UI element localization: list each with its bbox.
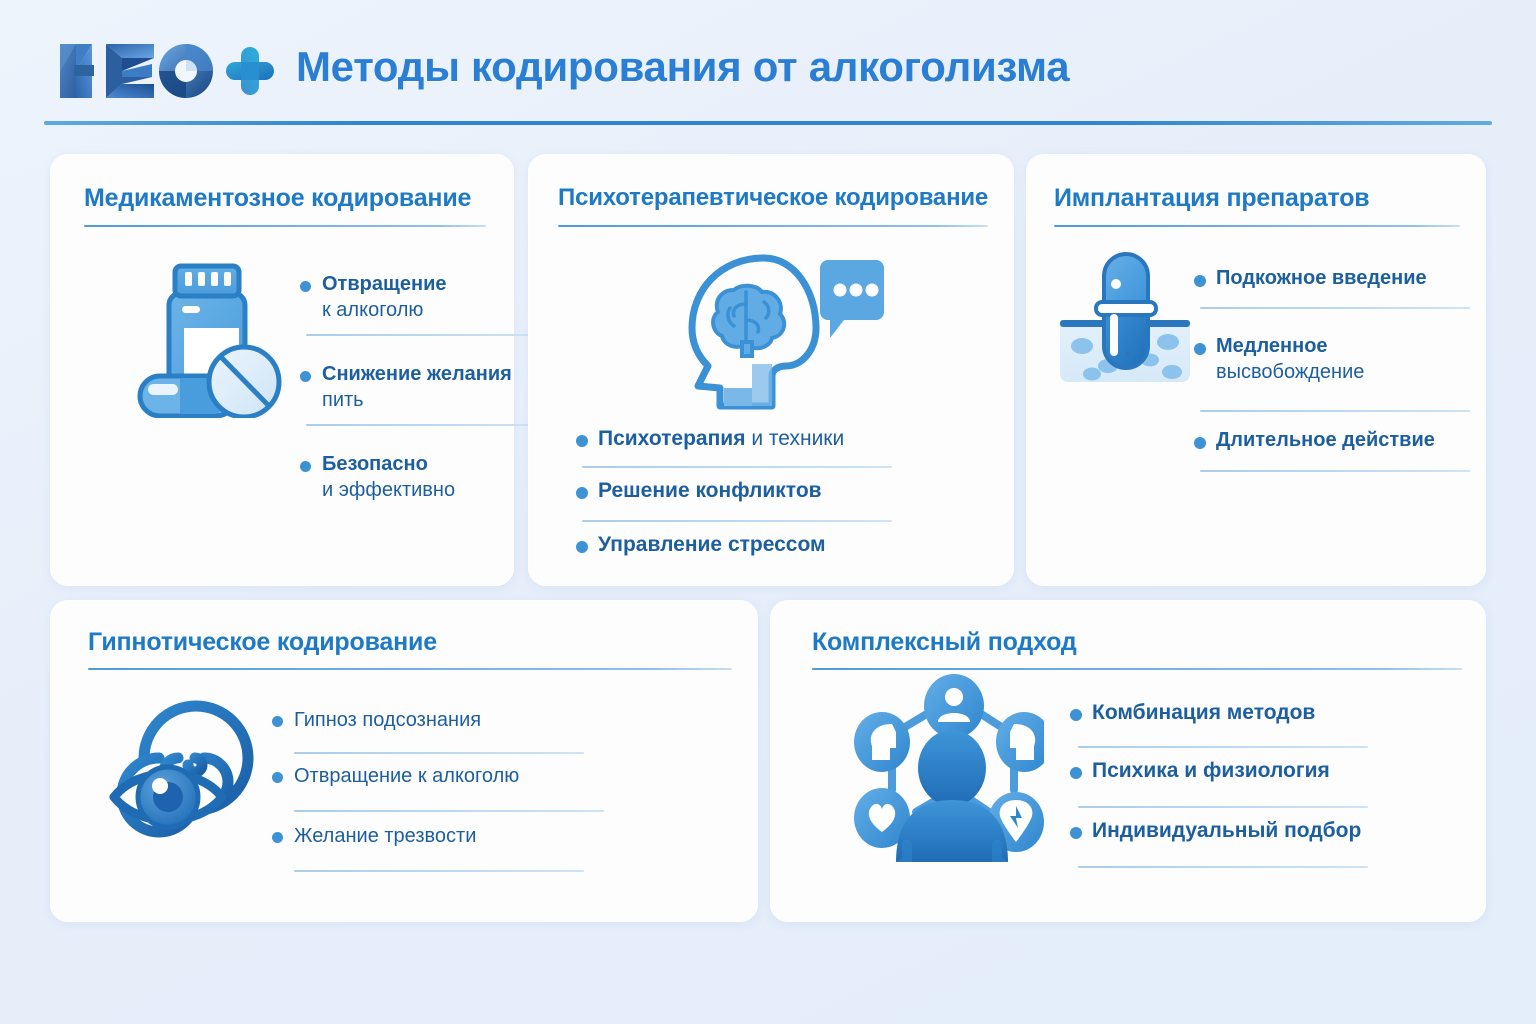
bullet-tail: высвобождение bbox=[1216, 360, 1474, 386]
bullet-rule bbox=[1200, 470, 1470, 472]
bullet-dot bbox=[272, 772, 283, 783]
bullet-dot bbox=[576, 541, 588, 553]
list-item[interactable]: Психика и физиология bbox=[1070, 758, 1390, 818]
person-network-icon bbox=[834, 672, 1044, 872]
capsule-implant-icon bbox=[1050, 244, 1200, 404]
card-complex-title: Комплексный подход bbox=[812, 628, 1077, 657]
pill-bottle-icon bbox=[126, 258, 286, 423]
bullet-rule bbox=[1078, 806, 1368, 808]
list-item[interactable]: Решение конфликтов bbox=[576, 478, 996, 532]
bullet-lead: Снижение желания bbox=[322, 363, 512, 385]
card-implant-title: Имплантация препаратов bbox=[1054, 184, 1369, 213]
list-item[interactable]: Длительное действие bbox=[1194, 410, 1474, 466]
list-item[interactable]: Безопасно и эффективно bbox=[300, 424, 550, 494]
page-title: Методы кодирования от алкоголизма bbox=[296, 43, 1069, 91]
bullet-lead: Решение конфликтов bbox=[598, 479, 822, 502]
list-item[interactable]: Медленное высвобождение bbox=[1194, 318, 1474, 410]
list-item[interactable]: Индивидуальный подбор bbox=[1070, 818, 1390, 878]
card-psycho-title-rule bbox=[558, 225, 988, 227]
card-implant-title-rule bbox=[1054, 225, 1460, 227]
logo-svg bbox=[56, 40, 276, 102]
card-implant-bullets: Подкожное введение Медленное высвобожден… bbox=[1194, 266, 1474, 466]
bullet-dot bbox=[300, 461, 311, 472]
list-item[interactable]: Отвращение к алкоголю bbox=[272, 764, 602, 824]
bullet-rule bbox=[294, 810, 604, 812]
card-medication-title-rule bbox=[84, 225, 486, 227]
bullet-tail: и техники bbox=[751, 427, 844, 450]
bullet-dot bbox=[1070, 709, 1082, 721]
bullet-lead: Управление стрессом bbox=[598, 533, 826, 556]
bullet-dot bbox=[300, 371, 311, 382]
bullet-lead: Желание трезвости bbox=[294, 825, 476, 847]
bullet-lead: Безопасно bbox=[322, 453, 428, 475]
bullet-lead: Гипноз подсознания bbox=[294, 709, 481, 731]
bullet-lead: Индивидуальный подбор bbox=[1092, 819, 1361, 842]
bullet-dot bbox=[1194, 275, 1206, 287]
card-hypnosis-bullets: Гипноз подсознания Отвращение к алкоголю… bbox=[272, 708, 602, 884]
bullet-dot bbox=[1070, 767, 1082, 779]
bullet-rule bbox=[294, 870, 584, 872]
list-item[interactable]: Подкожное введение bbox=[1194, 266, 1474, 318]
card-complex-title-rule bbox=[812, 668, 1462, 670]
card-complex-bullets: Комбинация методов Психика и физиология … bbox=[1070, 700, 1390, 878]
bullet-rule bbox=[1200, 307, 1470, 309]
list-item[interactable]: Отвращение к алкоголю bbox=[300, 272, 550, 334]
bullet-dot bbox=[300, 281, 311, 292]
bullet-dot bbox=[272, 832, 283, 843]
bullet-lead: Психика и физиология bbox=[1092, 759, 1330, 782]
neo-plus-logo bbox=[56, 40, 276, 102]
bullet-lead: Отвращение к алкоголю bbox=[294, 765, 519, 787]
bullet-lead: Отвращение bbox=[322, 273, 446, 295]
card-medication[interactable]: Медикаментозное кодирование bbox=[50, 154, 514, 586]
card-complex[interactable]: Комплексный подход bbox=[770, 600, 1486, 922]
card-hypnosis-title-rule bbox=[88, 668, 732, 670]
card-psycho-title: Психотерапевтическое кодирование bbox=[558, 184, 988, 212]
bullet-rule bbox=[582, 520, 892, 522]
bullet-dot bbox=[576, 487, 588, 499]
list-item[interactable]: Психотерапия и техники bbox=[576, 426, 996, 478]
bullet-tail: пить bbox=[322, 388, 550, 414]
head-brain-speech-icon bbox=[668, 246, 888, 421]
list-item[interactable]: Гипноз подсознания bbox=[272, 708, 602, 764]
bullet-dot bbox=[1194, 343, 1206, 355]
bullet-lead: Комбинация методов bbox=[1092, 701, 1315, 724]
header-divider bbox=[44, 121, 1492, 125]
bullet-rule bbox=[1078, 746, 1368, 748]
bullet-rule bbox=[294, 752, 584, 754]
card-hypnosis-title: Гипнотическое кодирование bbox=[88, 628, 437, 657]
bullet-dot bbox=[1070, 827, 1082, 839]
hypnosis-eye-spiral-icon bbox=[108, 682, 273, 847]
card-psycho[interactable]: Психотерапевтическое кодирование bbox=[528, 154, 1014, 586]
card-psycho-bullets: Психотерапия и техники Решение конфликто… bbox=[576, 426, 996, 576]
bullet-lead: Психотерапия bbox=[598, 427, 745, 450]
bullet-rule bbox=[582, 466, 892, 468]
list-item[interactable]: Снижение желания пить bbox=[300, 334, 550, 424]
list-item[interactable]: Комбинация методов bbox=[1070, 700, 1390, 758]
bullet-dot bbox=[576, 435, 588, 447]
bullet-dot bbox=[1194, 437, 1206, 449]
bullet-lead: Медленное bbox=[1216, 335, 1328, 357]
bullet-lead: Длительное действие bbox=[1216, 429, 1435, 451]
card-implant[interactable]: Имплантация препаратов bbox=[1026, 154, 1486, 586]
bullet-tail: и эффективно bbox=[322, 478, 550, 504]
bullet-rule bbox=[1078, 866, 1368, 868]
list-item[interactable]: Управление стрессом bbox=[576, 532, 996, 576]
bullet-lead: Подкожное введение bbox=[1216, 267, 1427, 289]
card-hypnosis[interactable]: Гипнотическое кодирование bbox=[50, 600, 758, 922]
bullet-dot bbox=[272, 716, 283, 727]
list-item[interactable]: Желание трезвости bbox=[272, 824, 602, 884]
page-header: Методы кодирования от алкоголизма bbox=[0, 0, 1536, 132]
card-medication-bullets: Отвращение к алкоголю Снижение желания п… bbox=[300, 272, 550, 494]
bullet-tail: к алкоголю bbox=[322, 298, 550, 324]
card-medication-title: Медикаментозное кодирование bbox=[84, 184, 471, 213]
